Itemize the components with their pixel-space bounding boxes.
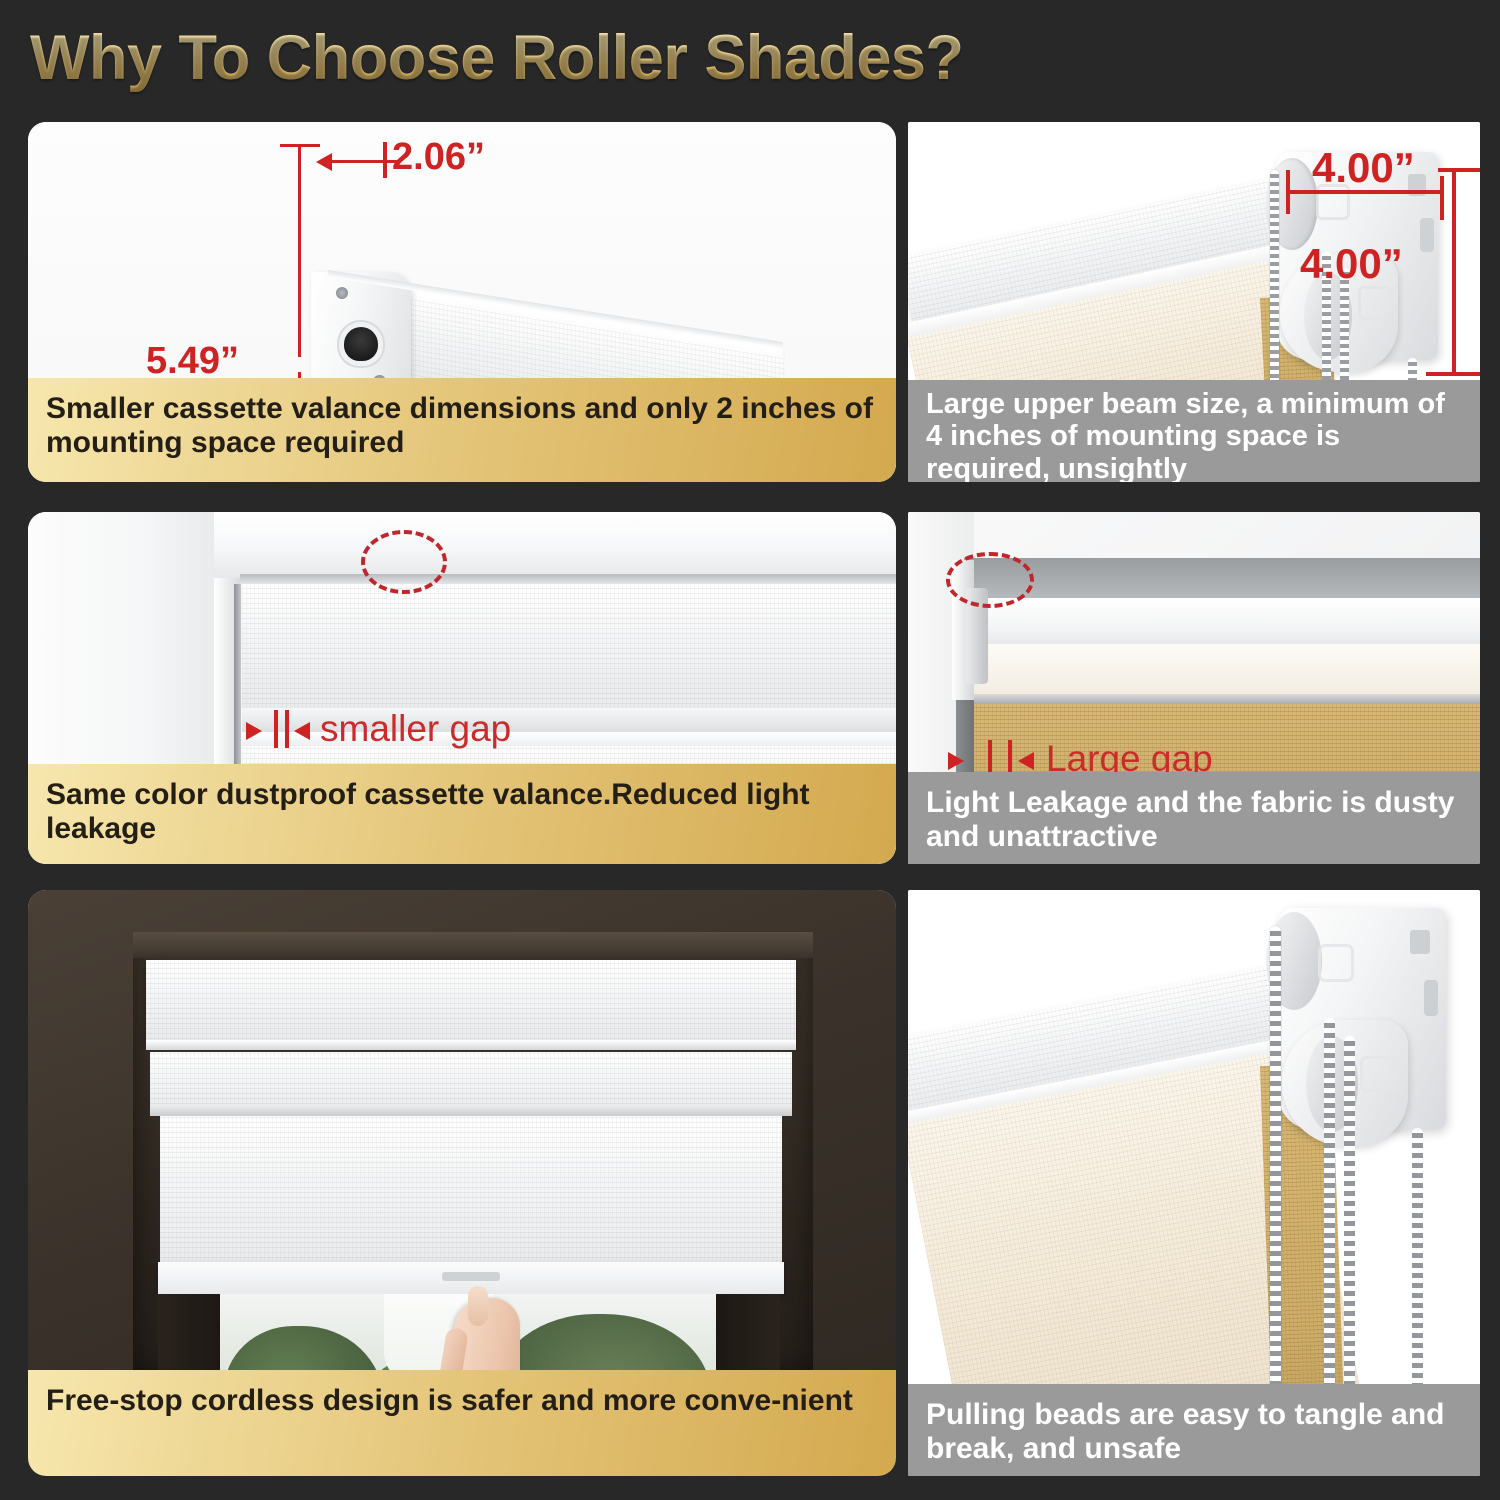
bracket-slot-1 [1410, 930, 1430, 954]
highlight-ellipse [361, 530, 447, 594]
dim-5-49-label: 5.49” [146, 340, 239, 383]
panel-large-upper-beam: 4.00” 4.00” Large upper beam size, a min… [908, 122, 1480, 482]
gap-arrow-left [246, 722, 262, 740]
panel-cordless-design: Free-stop cordless design is safer and m… [28, 890, 896, 1476]
bottom-rail-grip [442, 1272, 500, 1281]
caption-large-upper-beam: Large upper beam size, a minimum of 4 in… [908, 380, 1480, 482]
roller-tube-shadow [150, 1106, 792, 1116]
panel-pulling-beads: Pulling beads are easy to tangle and bre… [908, 890, 1480, 1476]
dim-2-06-label: 2.06” [392, 136, 485, 179]
panel-dustproof-cassette: smaller gap Same color dustproof cassett… [28, 512, 896, 864]
caption-light-leakage: Light Leakage and the fabric is dusty an… [908, 772, 1480, 864]
panel-light-leakage: Large gap Light Leakage and the fabric i… [908, 512, 1480, 864]
bracket-slot-2 [1420, 218, 1434, 252]
dim-height-cap-top [1438, 168, 1480, 172]
dim-width-tick-left [1286, 170, 1290, 214]
dim-height-label: 4.00” [1300, 240, 1403, 288]
beam-lower-face [964, 644, 1480, 698]
bracket-emblem-lower [1360, 1056, 1396, 1092]
gap-arrow-right [294, 722, 310, 740]
caption-dustproof-cassette: Same color dustproof cassette valance.Re… [28, 764, 896, 864]
dim-5-49-cap-top [280, 144, 320, 147]
beam-bottom-edge [964, 694, 1480, 704]
gap-tick-right [285, 710, 289, 748]
caption-cassette-dimensions: Smaller cassette valance dimensions and … [28, 378, 896, 482]
hand-finger [468, 1286, 488, 1326]
dim-5-49-line [298, 144, 301, 357]
beam-shadow-band [964, 558, 1480, 602]
caption-pulling-beads: Pulling beads are easy to tangle and bre… [908, 1384, 1480, 1476]
caption-cordless-design: Free-stop cordless design is safer and m… [28, 1370, 896, 1476]
dim-height-line [1452, 168, 1456, 376]
highlight-ellipse [946, 552, 1034, 608]
cassette-valance [242, 584, 896, 714]
bracket-slot-2 [1424, 980, 1438, 1016]
bracket-emblem-upper [1318, 944, 1354, 982]
panel-cassette-dimensions: 2.06” 5.49” Smaller cassette valance dim… [28, 122, 896, 482]
headrail-valance [146, 960, 796, 1044]
upper-beam [964, 598, 1480, 650]
gap-tick-left [274, 710, 278, 748]
dim-2-06-arrow-left [316, 153, 332, 171]
dim-width-label: 4.00” [1312, 144, 1415, 192]
dim-2-06-tick-right [383, 142, 387, 178]
window-recess-top [133, 932, 813, 958]
gap-arrow-right [1018, 752, 1034, 770]
shade-fabric-main [160, 1116, 782, 1268]
dim-height-cap-bottom [1426, 372, 1480, 376]
window-frame-header-shadow [240, 574, 896, 584]
window-frame-header [214, 512, 896, 578]
page-title: Why To Choose Roller Shades? [30, 22, 963, 94]
bracket-screw-upper [336, 287, 348, 299]
bracket-emblem-lower [1358, 286, 1392, 320]
headrail-lip [146, 1040, 796, 1050]
smaller-gap-label: smaller gap [320, 708, 511, 750]
gap-arrow-left [948, 752, 964, 770]
dim-width-tick-right [1440, 176, 1444, 220]
bracket-roller-slot [344, 327, 378, 361]
dim-2-06-line [324, 160, 400, 163]
roller-tube [150, 1052, 792, 1114]
